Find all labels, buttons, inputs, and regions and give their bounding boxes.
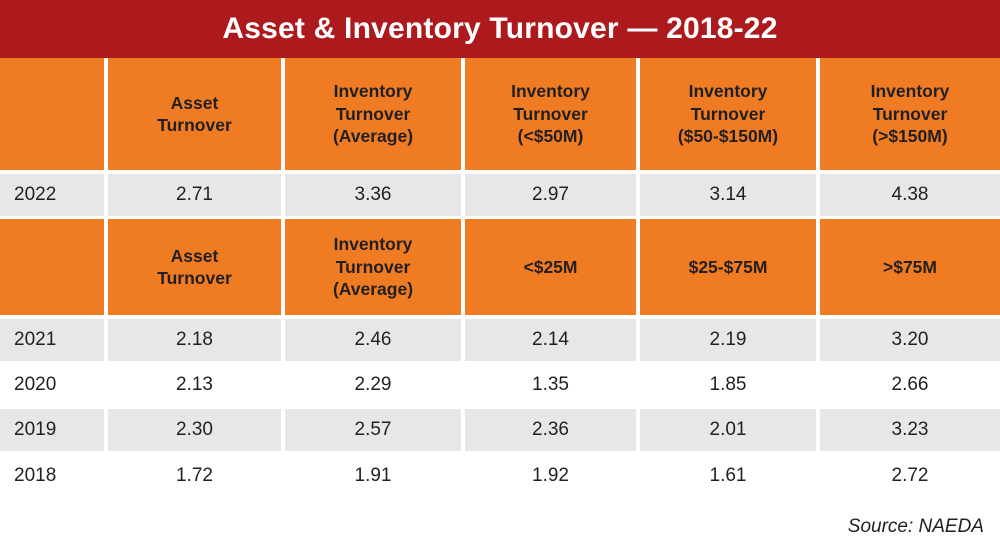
- header-line-2: Turnover: [691, 104, 766, 124]
- cell-inventory-average: 3.36: [285, 174, 465, 219]
- cell-asset-turnover: 1.72: [108, 454, 285, 499]
- header-line-1: Asset: [171, 93, 219, 113]
- cell-year: 2022: [0, 174, 108, 219]
- header-line-2: Turnover: [513, 104, 588, 124]
- header-line-3: ($50-$150M): [678, 126, 778, 146]
- header-line-2: Turnover: [336, 257, 411, 277]
- cell-inventory-small: 2.36: [465, 409, 640, 454]
- cell-asset-turnover: 2.30: [108, 409, 285, 454]
- header-cell-under-25m: <$25M: [465, 219, 640, 319]
- header-cell-asset-turnover: Asset Turnover: [108, 58, 285, 174]
- cell-inventory-small: 1.35: [465, 364, 640, 409]
- header-line-3: (<$50M): [518, 126, 584, 146]
- header-cell-inventory-average: Inventory Turnover (Average): [285, 219, 465, 319]
- cell-inventory-average: 2.46: [285, 319, 465, 364]
- cell-inventory-mid: 2.19: [640, 319, 820, 364]
- cell-inventory-large: 4.38: [820, 174, 1000, 219]
- header-line-1: Inventory: [511, 81, 590, 101]
- table-row: 2018 1.72 1.91 1.92 1.61 2.72: [0, 454, 1000, 499]
- header-cell-inventory-average: Inventory Turnover (Average): [285, 58, 465, 174]
- table-row: 2022 2.71 3.36 2.97 3.14 4.38: [0, 174, 1000, 219]
- cell-inventory-large: 2.66: [820, 364, 1000, 409]
- cell-year: 2018: [0, 454, 108, 499]
- cell-inventory-mid: 3.14: [640, 174, 820, 219]
- turnover-table: Asset Turnover Inventory Turnover (Avera…: [0, 58, 1000, 499]
- header-cell-inventory-50-150m: Inventory Turnover ($50-$150M): [640, 58, 820, 174]
- header-cell-inventory-over-150m: Inventory Turnover (>$150M): [820, 58, 1000, 174]
- cell-year: 2019: [0, 409, 108, 454]
- cell-asset-turnover: 2.13: [108, 364, 285, 409]
- header-line-3: (Average): [333, 279, 413, 299]
- header-cell-inventory-under-50m: Inventory Turnover (<$50M): [465, 58, 640, 174]
- header-line-1: Inventory: [871, 81, 950, 101]
- header-line-2: Turnover: [157, 268, 232, 288]
- title-banner: Asset & Inventory Turnover — 2018-22: [0, 0, 1000, 58]
- header-line-1: Asset: [171, 246, 219, 266]
- page-title: Asset & Inventory Turnover — 2018-22: [222, 14, 777, 44]
- header-line-3: (Average): [333, 126, 413, 146]
- table-row: 2021 2.18 2.46 2.14 2.19 3.20: [0, 319, 1000, 364]
- header-cell-corner: [0, 58, 108, 174]
- header-line-1: Inventory: [334, 81, 413, 101]
- cell-inventory-small: 2.14: [465, 319, 640, 364]
- header-line-1: Inventory: [689, 81, 768, 101]
- cell-asset-turnover: 2.71: [108, 174, 285, 219]
- header-line-3: (>$150M): [872, 126, 947, 146]
- cell-inventory-average: 2.29: [285, 364, 465, 409]
- cell-inventory-mid: 2.01: [640, 409, 820, 454]
- header-line-2: Turnover: [157, 115, 232, 135]
- header-cell-25-75m: $25-$75M: [640, 219, 820, 319]
- table-row: 2019 2.30 2.57 2.36 2.01 3.23: [0, 409, 1000, 454]
- header-line-1: Inventory: [334, 234, 413, 254]
- header-row-prior-years: Asset Turnover Inventory Turnover (Avera…: [0, 219, 1000, 319]
- cell-year: 2020: [0, 364, 108, 409]
- header-line-2: Turnover: [336, 104, 411, 124]
- header-row-2022: Asset Turnover Inventory Turnover (Avera…: [0, 58, 1000, 174]
- header-cell-corner: [0, 219, 108, 319]
- cell-inventory-average: 1.91: [285, 454, 465, 499]
- cell-inventory-mid: 1.85: [640, 364, 820, 409]
- cell-inventory-small: 2.97: [465, 174, 640, 219]
- cell-inventory-average: 2.57: [285, 409, 465, 454]
- header-line-2: Turnover: [873, 104, 948, 124]
- cell-inventory-mid: 1.61: [640, 454, 820, 499]
- cell-inventory-small: 1.92: [465, 454, 640, 499]
- cell-asset-turnover: 2.18: [108, 319, 285, 364]
- table-figure: Asset & Inventory Turnover — 2018-22 Ass…: [0, 0, 1000, 548]
- cell-inventory-large: 3.20: [820, 319, 1000, 364]
- cell-year: 2021: [0, 319, 108, 364]
- header-cell-over-75m: >$75M: [820, 219, 1000, 319]
- cell-inventory-large: 3.23: [820, 409, 1000, 454]
- header-cell-asset-turnover: Asset Turnover: [108, 219, 285, 319]
- table-row: 2020 2.13 2.29 1.35 1.85 2.66: [0, 364, 1000, 409]
- source-note: Source: NAEDA: [848, 516, 984, 538]
- cell-inventory-large: 2.72: [820, 454, 1000, 499]
